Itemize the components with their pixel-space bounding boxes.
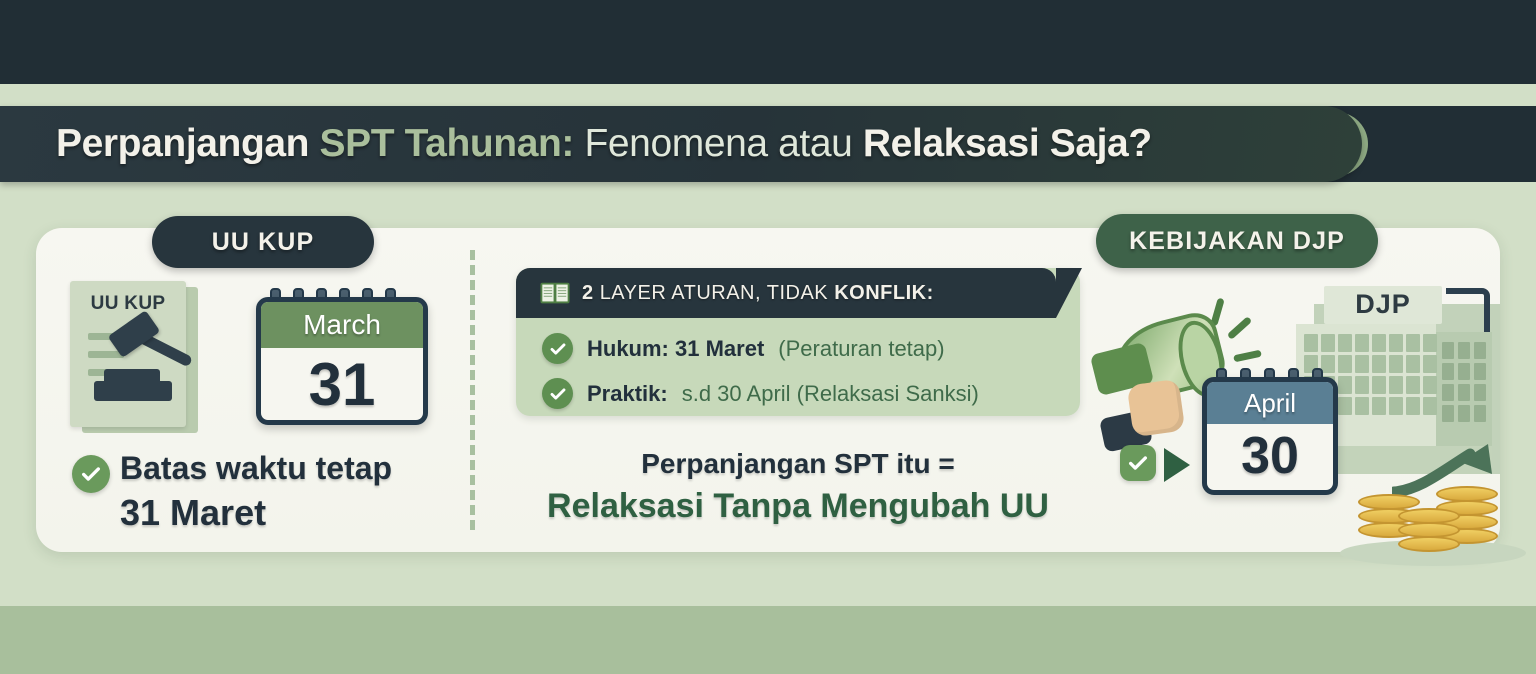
infographic-canvas: Perpanjangan SPT Tahunan: Fenomena atau …	[0, 0, 1536, 674]
rule-row-note: (Peraturan tetap)	[778, 336, 944, 362]
building-side-window-grid	[1442, 342, 1486, 422]
badge-kebijakan-djp: KEBIJAKAN DJP	[1096, 214, 1378, 268]
left-check-line-2: 31 Maret	[120, 492, 266, 534]
title-part-3: Fenomena atau	[584, 122, 862, 165]
conclusion-line-2: Relaksasi Tanpa Mengubah UU	[506, 487, 1090, 526]
left-check-line-1: Batas waktu tetap	[120, 450, 392, 487]
title-part-1: Perpanjangan	[56, 122, 320, 165]
building-sign-label: DJP	[1324, 289, 1442, 320]
top-dark-band	[0, 0, 1536, 84]
check-circle-icon	[542, 378, 573, 409]
hand-icon	[1127, 379, 1186, 438]
rule-row-label: Praktik:	[587, 381, 668, 407]
title-part-4: Relaksasi Saja?	[863, 122, 1152, 165]
rules-panel-header: 2 LAYER ATURAN, TIDAK KONFLIK:	[516, 268, 1056, 318]
building-antenna-icon	[1446, 288, 1490, 332]
rule-row-praktik: Praktik: s.d 30 April (Relaksasi Sanksi)	[542, 378, 979, 409]
coin	[1398, 508, 1460, 524]
badge-uu-kup: UU KUP	[152, 216, 374, 268]
check-circle-icon	[542, 333, 573, 364]
arrow-triangle-icon	[1164, 448, 1190, 482]
coin	[1436, 486, 1498, 502]
calendar-april-month: April	[1207, 382, 1333, 424]
coin	[1398, 536, 1460, 552]
document-label: UU KUP	[80, 293, 176, 315]
calendar-march: March 31	[256, 297, 428, 425]
uu-kup-document-icon: UU KUP	[70, 281, 198, 433]
gavel-sound-block	[94, 381, 172, 401]
page-title: Perpanjangan SPT Tahunan: Fenomena atau …	[0, 122, 1152, 166]
coin	[1398, 522, 1460, 538]
check-circle-icon	[72, 455, 110, 493]
vertical-dashed-divider	[470, 250, 475, 530]
coin	[1358, 494, 1420, 510]
title-part-2: SPT Tahunan:	[320, 122, 585, 165]
upper-green-band	[0, 84, 1536, 106]
calendar-march-month: March	[261, 302, 423, 348]
title-banner: Perpanjangan SPT Tahunan: Fenomena atau …	[0, 106, 1362, 182]
rule-row-note: s.d 30 April (Relaksasi Sanksi)	[682, 381, 979, 407]
coin-stacks-icon	[1358, 478, 1508, 560]
rule-row-label: Hukum: 31 Maret	[587, 336, 764, 362]
conclusion-line-1: Perpanjangan SPT itu =	[516, 448, 1080, 480]
rules-panel-title: 2 LAYER ATURAN, TIDAK KONFLIK:	[582, 282, 934, 305]
rules-title-emphasis: KONFLIK:	[834, 282, 934, 304]
check-square-icon	[1120, 445, 1156, 481]
calendar-march-day: 31	[261, 348, 423, 420]
rules-title-count: 2	[582, 282, 600, 304]
rule-row-hukum: Hukum: 31 Maret (Peraturan tetap)	[542, 333, 945, 364]
footer-sage-band	[0, 606, 1536, 674]
rules-title-mid: LAYER ATURAN, TIDAK	[600, 282, 835, 304]
open-book-icon	[540, 281, 570, 305]
calendar-april: April 30	[1202, 377, 1338, 495]
calendar-april-day: 30	[1207, 424, 1333, 488]
